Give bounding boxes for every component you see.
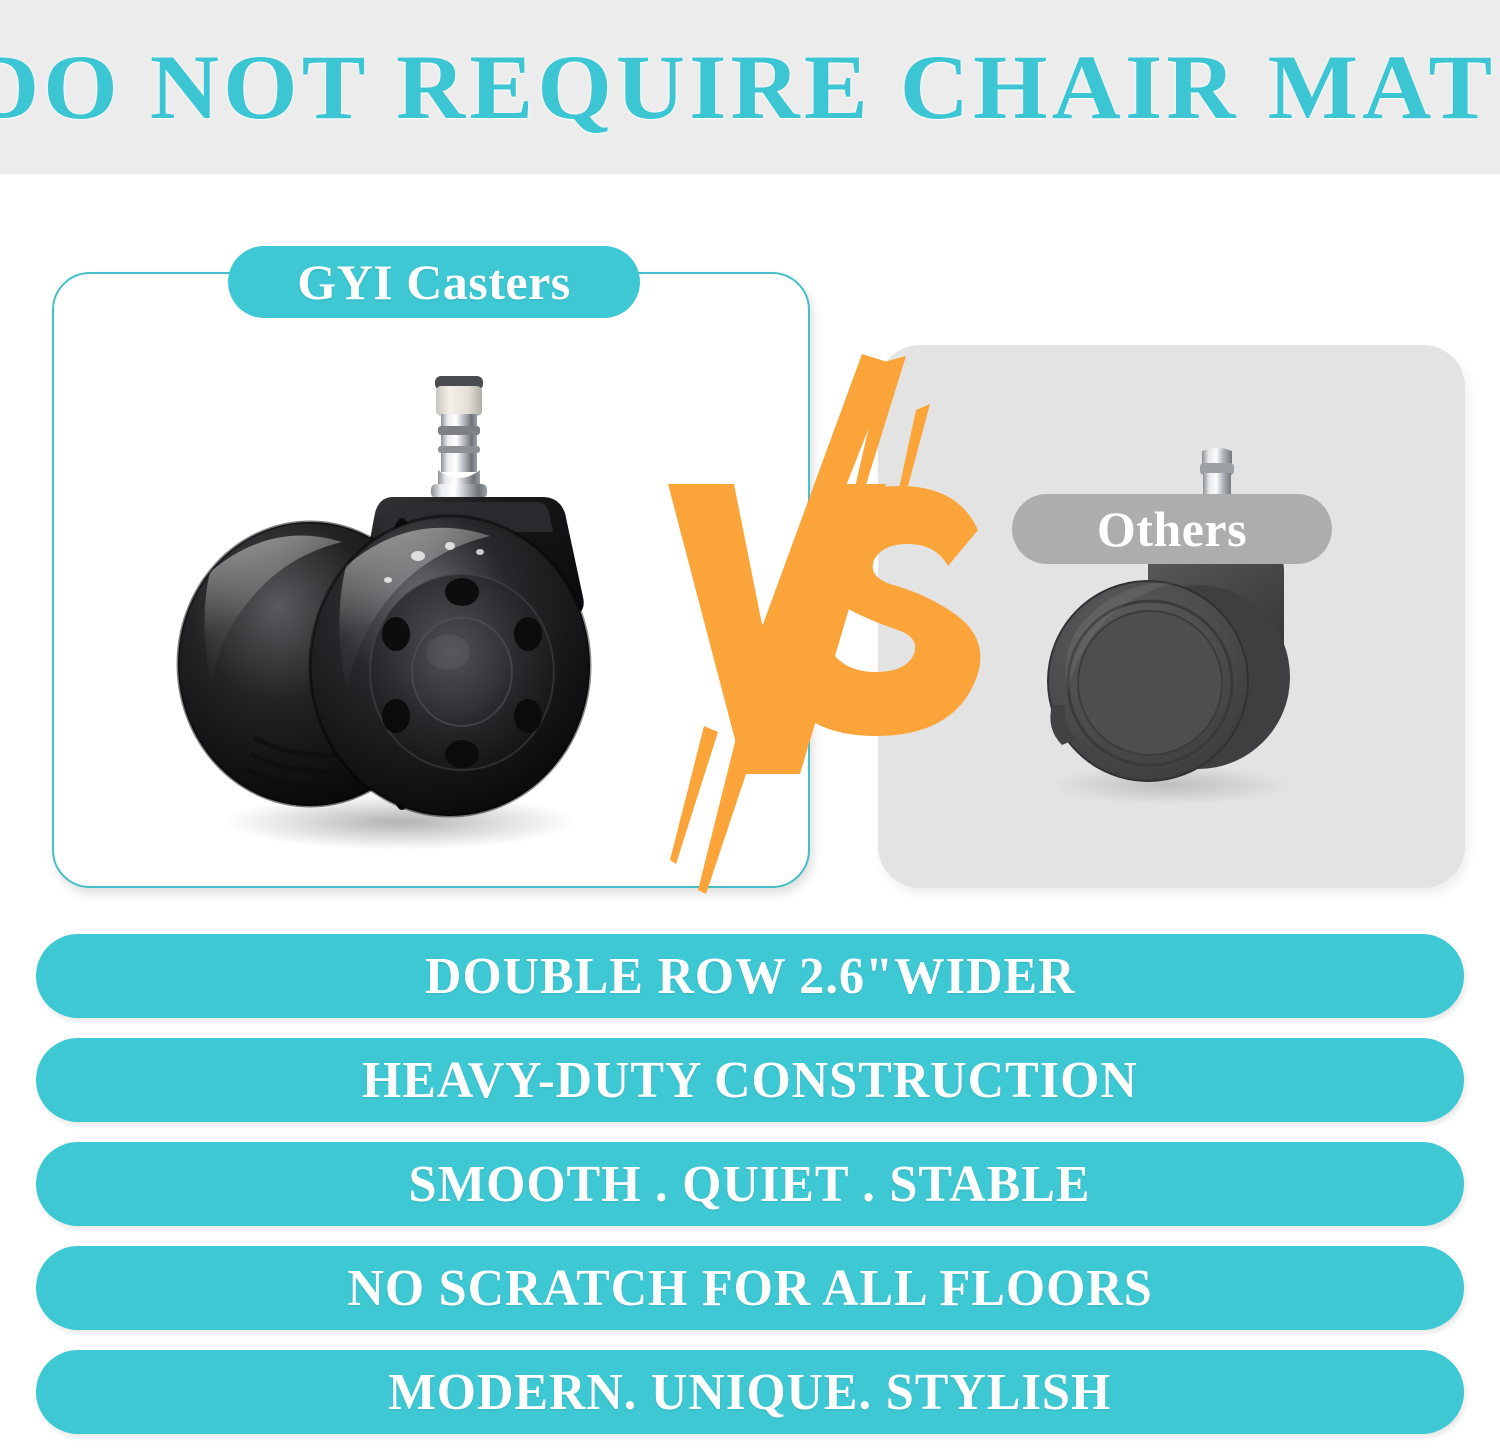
feature-bar: HEAVY-DUTY CONSTRUCTION: [36, 1038, 1464, 1122]
others-caster-image: [1000, 429, 1340, 809]
feature-label: DOUBLE ROW 2.6"WIDER: [425, 947, 1075, 1006]
gyi-label-pill: GYI Casters: [228, 246, 640, 318]
feature-label: HEAVY-DUTY CONSTRUCTION: [362, 1051, 1138, 1110]
others-label-text: Others: [1097, 500, 1247, 558]
gyi-label-text: GYI Casters: [297, 253, 571, 311]
others-label-pill: Others: [1012, 494, 1332, 564]
comparison-section: GYI Casters: [0, 174, 1500, 934]
feature-label: SMOOTH . QUIET . STABLE: [409, 1155, 1091, 1214]
feature-list: DOUBLE ROW 2.6"WIDER HEAVY-DUTY CONSTRUC…: [0, 934, 1500, 1448]
feature-bar: DOUBLE ROW 2.6"WIDER: [36, 934, 1464, 1018]
header-banner: DO NOT REQUIRE CHAIR MATS: [0, 0, 1500, 174]
gyi-caster-image: [150, 334, 620, 854]
feature-label: MODERN. UNIQUE. STYLISH: [389, 1363, 1112, 1422]
feature-bar: MODERN. UNIQUE. STYLISH: [36, 1350, 1464, 1434]
feature-label: NO SCRATCH FOR ALL FLOORS: [347, 1259, 1152, 1318]
page-title: DO NOT REQUIRE CHAIR MATS: [0, 41, 1500, 133]
feature-bar: SMOOTH . QUIET . STABLE: [36, 1142, 1464, 1226]
feature-bar: NO SCRATCH FOR ALL FLOORS: [36, 1246, 1464, 1330]
